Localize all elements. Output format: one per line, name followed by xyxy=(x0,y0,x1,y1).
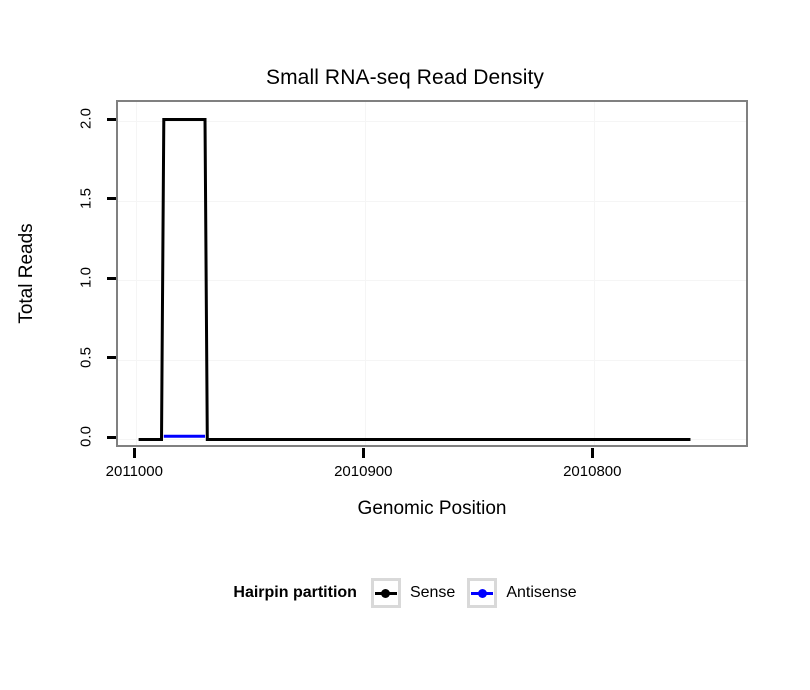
plot-area xyxy=(118,102,746,445)
legend-entry-sense[interactable]: Sense xyxy=(371,578,455,608)
x-tick-mark xyxy=(133,448,136,458)
x-tick-mark xyxy=(591,448,594,458)
chart-page: Small RNA-seq Read Density 0.00.51.01.52… xyxy=(0,0,810,690)
legend-key-antisense-icon xyxy=(467,578,497,608)
data-line-sense xyxy=(139,120,691,440)
x-axis-title: Genomic Position xyxy=(116,498,748,520)
y-tick-label: 1.0 xyxy=(78,265,95,291)
legend-label: Sense xyxy=(410,584,455,602)
plot-panel xyxy=(116,100,748,447)
y-axis-title: Total Reads xyxy=(14,100,40,447)
y-tick-mark xyxy=(107,436,116,439)
x-tick-label: 2010900 xyxy=(313,463,413,480)
y-tick-mark xyxy=(107,118,116,121)
legend: Hairpin partition SenseAntisense xyxy=(0,578,810,608)
legend-key-sense-icon xyxy=(371,578,401,608)
y-tick-label: 2.0 xyxy=(78,106,95,132)
x-tick-label: 2010800 xyxy=(542,463,642,480)
y-tick-mark xyxy=(107,197,116,200)
y-tick-mark xyxy=(107,277,116,280)
legend-entries: SenseAntisense xyxy=(371,578,577,608)
x-tick-mark xyxy=(362,448,365,458)
legend-key-dot xyxy=(381,589,390,598)
y-tick-label: 0.0 xyxy=(78,424,95,450)
y-tick-mark xyxy=(107,356,116,359)
page-title: Small RNA-seq Read Density xyxy=(0,66,810,90)
x-tick-label: 2011000 xyxy=(84,463,184,480)
legend-key-dot xyxy=(478,589,487,598)
y-tick-label: 0.5 xyxy=(78,344,95,370)
y-tick-label: 1.5 xyxy=(78,185,95,211)
data-series-layer xyxy=(118,102,746,445)
legend-label: Antisense xyxy=(506,584,576,602)
legend-title: Hairpin partition xyxy=(233,584,357,602)
legend-entry-antisense[interactable]: Antisense xyxy=(467,578,576,608)
